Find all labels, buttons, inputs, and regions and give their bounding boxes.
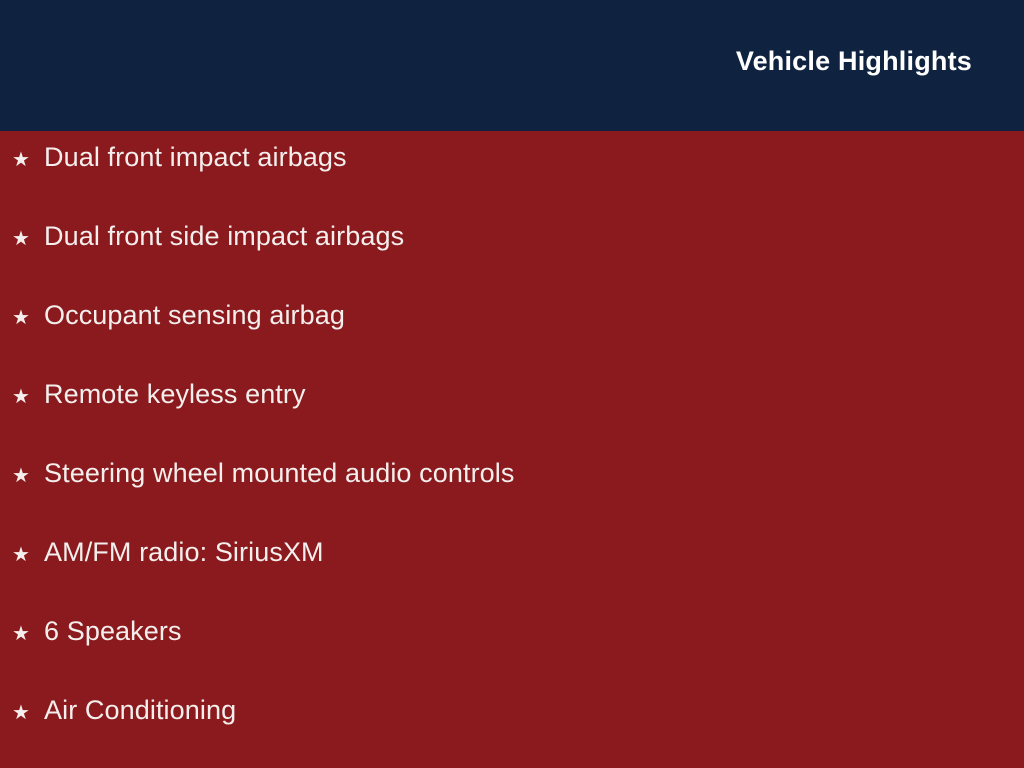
list-item-label: Air Conditioning [44,697,236,724]
slide-canvas: Vehicle Highlights ★ Dual front impact a… [0,0,1024,768]
list-item: ★ Air Conditioning [0,697,1024,768]
page-title: Vehicle Highlights [736,46,1024,85]
list-item: ★ AM/FM radio: SiriusXM [0,539,1024,618]
list-item-label: 6 Speakers [44,618,182,645]
list-item-label: Steering wheel mounted audio controls [44,460,515,487]
star-icon: ★ [12,703,44,723]
list-item: ★ 6 Speakers [0,618,1024,697]
list-item-label: Dual front side impact airbags [44,223,404,250]
list-item: ★ Steering wheel mounted audio controls [0,460,1024,539]
vehicle-highlights-list: ★ Dual front impact airbags ★ Dual front… [0,131,1024,768]
list-item: ★ Dual front impact airbags [0,144,1024,223]
list-item-label: Occupant sensing airbag [44,302,345,329]
list-item-label: Remote keyless entry [44,381,306,408]
list-item-label: AM/FM radio: SiriusXM [44,539,324,566]
star-icon: ★ [12,387,44,407]
list-item: ★ Remote keyless entry [0,381,1024,460]
star-icon: ★ [12,229,44,249]
star-icon: ★ [12,624,44,644]
star-icon: ★ [12,545,44,565]
star-icon: ★ [12,308,44,328]
list-item-label: Dual front impact airbags [44,144,347,171]
list-item: ★ Dual front side impact airbags [0,223,1024,302]
list-item: ★ Occupant sensing airbag [0,302,1024,381]
star-icon: ★ [12,466,44,486]
slide-header-band: Vehicle Highlights [0,0,1024,131]
star-icon: ★ [12,150,44,170]
